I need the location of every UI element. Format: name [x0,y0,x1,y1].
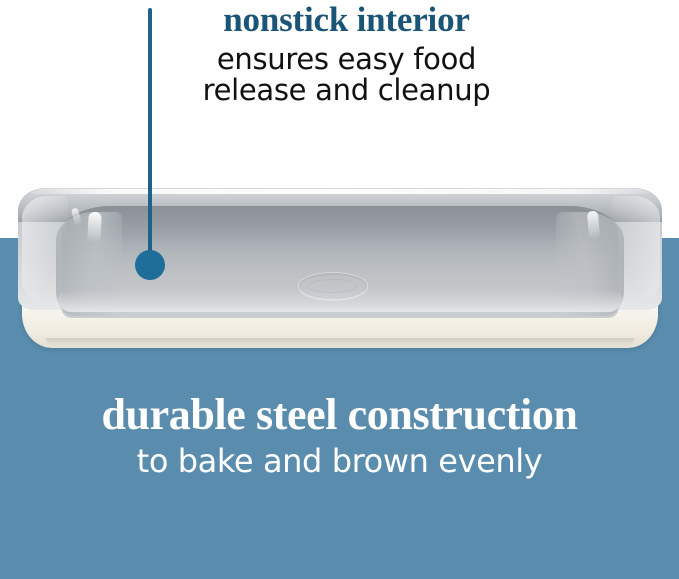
pan-embossed-logo-inner-icon [308,279,358,293]
baking-sheet-pan-image [0,178,679,350]
pan-interior-back-wall [62,206,618,240]
pan-corner-highlight-right [612,196,660,300]
pan-corner-highlight-left [22,196,68,300]
top-callout-subtext-line-1: ensures easy food [14,39,679,75]
pan-base-shadow [46,338,634,346]
top-callout-subtext-line-2: release and cleanup [14,75,679,106]
bottom-callout-text-block: durable steel construction to bake and b… [0,392,679,478]
product-infographic: nonstick interior ensures easy food rele… [0,0,679,579]
top-callout-text-block: nonstick interior ensures easy food rele… [0,0,679,106]
top-callout-headline: nonstick interior [14,0,679,39]
bottom-callout-headline: durable steel construction [0,392,679,438]
pan-highlight-right [587,211,600,240]
bottom-callout-subtext: to bake and brown evenly [0,438,679,478]
pan-highlight-left [87,212,102,243]
pan-rim-highlight [30,189,650,194]
callout-leader-dot [135,250,165,280]
